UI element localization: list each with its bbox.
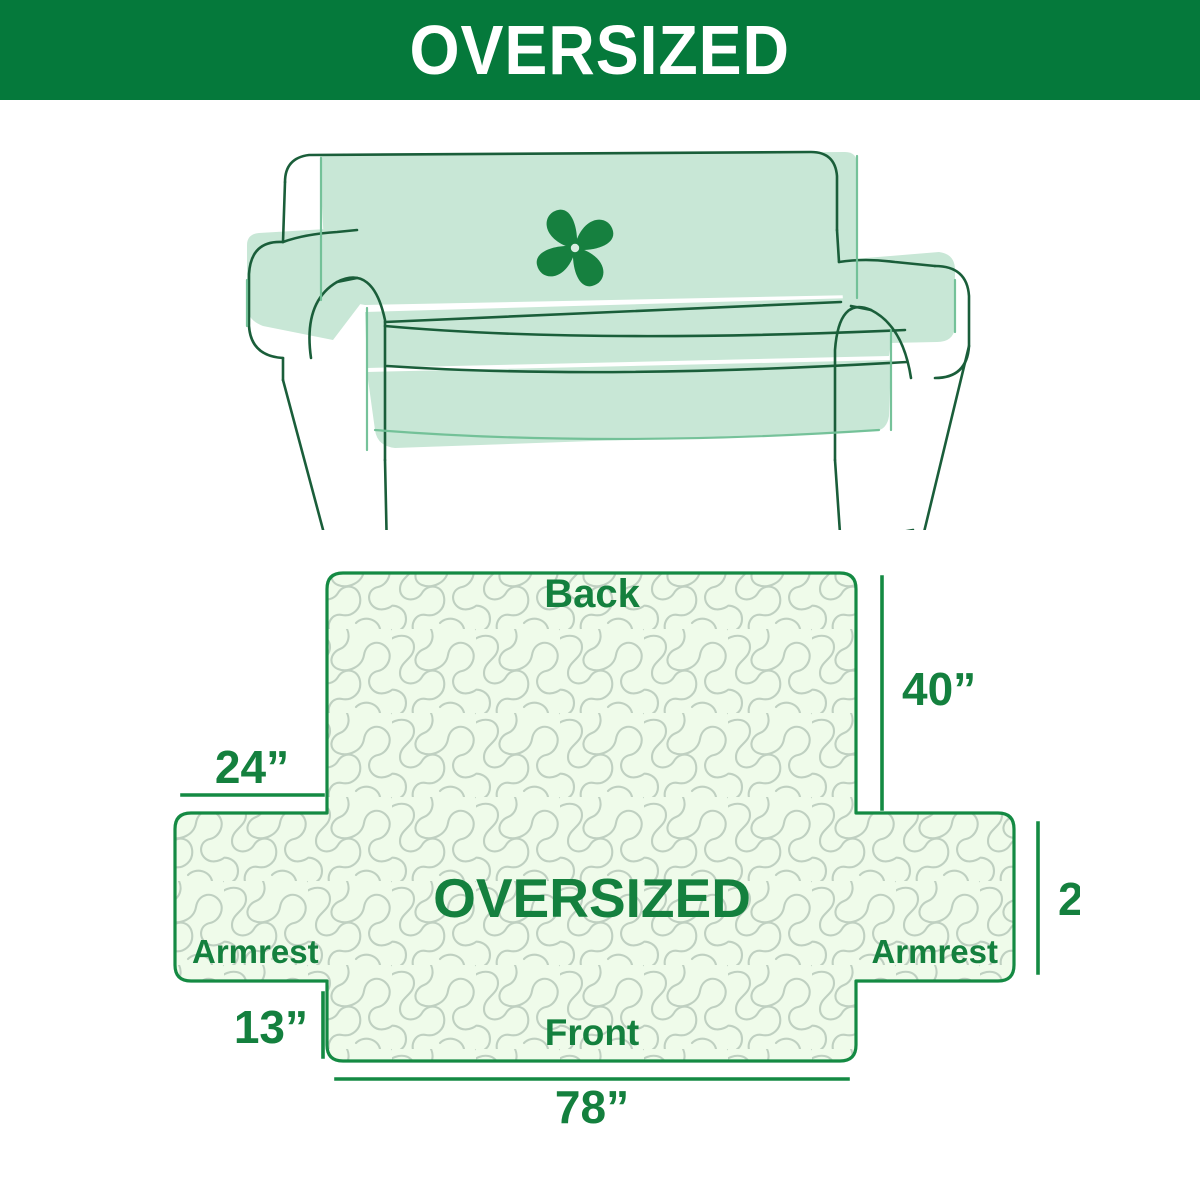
size-chart-page: OVERSIZED (0, 0, 1200, 1200)
panel-label-armrest-left: Armrest (192, 933, 319, 970)
center-label-oversized: OVERSIZED (433, 867, 751, 929)
dim-label-armrest-height: 23” (1058, 873, 1080, 925)
dim-label-back-inset: 24” (215, 741, 289, 793)
dim-label-back-height: 40” (902, 663, 976, 715)
cover-shape (175, 573, 1014, 1061)
header-banner: OVERSIZED (0, 0, 1200, 100)
panel-label-back: Back (544, 572, 640, 616)
flat-lay-diagram: Back OVERSIZED Armrest Armrest Front 40” (140, 545, 1080, 1125)
dim-label-total-width: 78” (555, 1081, 629, 1125)
panel-label-front: Front (545, 1012, 640, 1053)
panel-label-armrest-right: Armrest (871, 933, 998, 970)
page-title: OVERSIZED (410, 15, 790, 85)
slipcover-fill (247, 152, 955, 448)
dim-label-front-drop: 13” (234, 1001, 308, 1053)
sofa-drawing (245, 130, 975, 530)
flat-lay-svg: Back OVERSIZED Armrest Armrest Front 40” (140, 545, 1080, 1125)
sofa-illustration (245, 130, 975, 530)
